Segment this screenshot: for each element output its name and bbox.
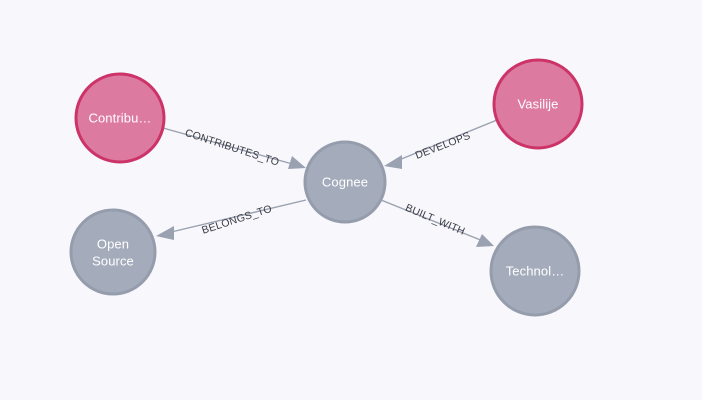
arrowhead-develops xyxy=(384,155,402,169)
graph-node-contributor[interactable]: Contribu… xyxy=(76,74,164,162)
edge-contributes-to[interactable]: CONTRIBUTES_TO xyxy=(163,127,306,169)
graph-canvas[interactable]: CONTRIBUTES_TO DEVELOPS BELONGS_TO BUILT… xyxy=(0,0,702,400)
graph-node-vasilije[interactable]: Vasilije xyxy=(494,60,582,148)
edge-label-built-with: BUILT_WITH xyxy=(403,202,466,238)
edge-label-contributes-to: CONTRIBUTES_TO xyxy=(183,127,280,169)
edge-develops[interactable]: DEVELOPS xyxy=(384,120,497,169)
graph-visualization[interactable]: CONTRIBUTES_TO DEVELOPS BELONGS_TO BUILT… xyxy=(0,0,702,400)
graph-node-technology[interactable]: Technol… xyxy=(491,227,579,315)
arrowhead-belongs-to xyxy=(156,226,174,240)
edge-label-belongs-to: BELONGS_TO xyxy=(200,203,273,237)
graph-node-cognee[interactable]: Cognee xyxy=(305,142,385,222)
edge-belongs-to[interactable]: BELONGS_TO xyxy=(156,200,306,240)
node-circle-open-source[interactable] xyxy=(71,210,155,294)
edge-label-develops: DEVELOPS xyxy=(414,130,473,162)
node-circle-vasilije[interactable] xyxy=(494,60,582,148)
edge-built-with[interactable]: BUILT_WITH xyxy=(381,200,494,247)
node-circle-technology[interactable] xyxy=(491,227,579,315)
graph-node-open-source[interactable]: Open Source xyxy=(71,210,155,294)
node-circle-contributor[interactable] xyxy=(76,74,164,162)
arrowhead-built-with xyxy=(476,234,494,247)
nodes-layer: Contribu… Vasilije Cognee Open Source xyxy=(71,60,582,315)
node-circle-cognee[interactable] xyxy=(305,142,385,222)
arrowhead-contributes-to xyxy=(288,156,306,169)
